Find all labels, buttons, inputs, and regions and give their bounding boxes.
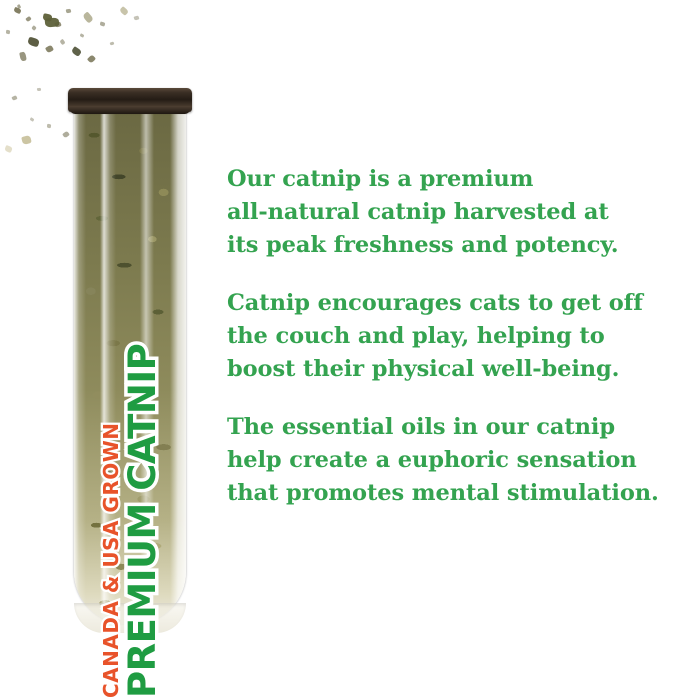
catnip-flake	[45, 45, 54, 54]
catnip-flake	[21, 135, 32, 145]
catnip-tube-product: CANADA & USA GROWN PREMIUM CATNIP	[68, 88, 192, 633]
catnip-flake	[71, 46, 82, 57]
catnip-flake	[47, 124, 52, 129]
tube-base	[74, 603, 186, 633]
catnip-flake	[19, 51, 27, 61]
catnip-flake	[66, 9, 72, 14]
catnip-flake	[100, 21, 106, 26]
tube-cap-lip	[70, 106, 190, 114]
catnip-flake	[17, 4, 22, 9]
copy-paragraph-1: Our catnip is a premium all-natural catn…	[227, 163, 679, 262]
catnip-flake	[37, 88, 41, 92]
catnip-flake	[31, 25, 37, 31]
catnip-flake	[27, 36, 40, 47]
catnip-flake	[110, 41, 115, 45]
catnip-flake	[30, 117, 35, 122]
catnip-flake	[82, 11, 94, 23]
marketing-copy: Our catnip is a premium all-natural catn…	[227, 163, 679, 510]
catnip-flake	[11, 95, 17, 101]
catnip-flake	[25, 16, 31, 22]
catnip-flake	[59, 39, 65, 45]
copy-paragraph-2: Catnip encourages cats to get off the co…	[227, 287, 679, 386]
catnip-flake	[134, 15, 140, 20]
catnip-flake	[45, 17, 60, 27]
catnip-flake	[119, 6, 129, 16]
catnip-flake	[4, 145, 13, 153]
catnip-flake	[87, 54, 96, 63]
copy-paragraph-3: The essential oils in our catnip help cr…	[227, 411, 679, 510]
catnip-flake	[80, 33, 85, 38]
tube-glass-body	[74, 104, 186, 624]
catnip-flake	[6, 30, 11, 35]
